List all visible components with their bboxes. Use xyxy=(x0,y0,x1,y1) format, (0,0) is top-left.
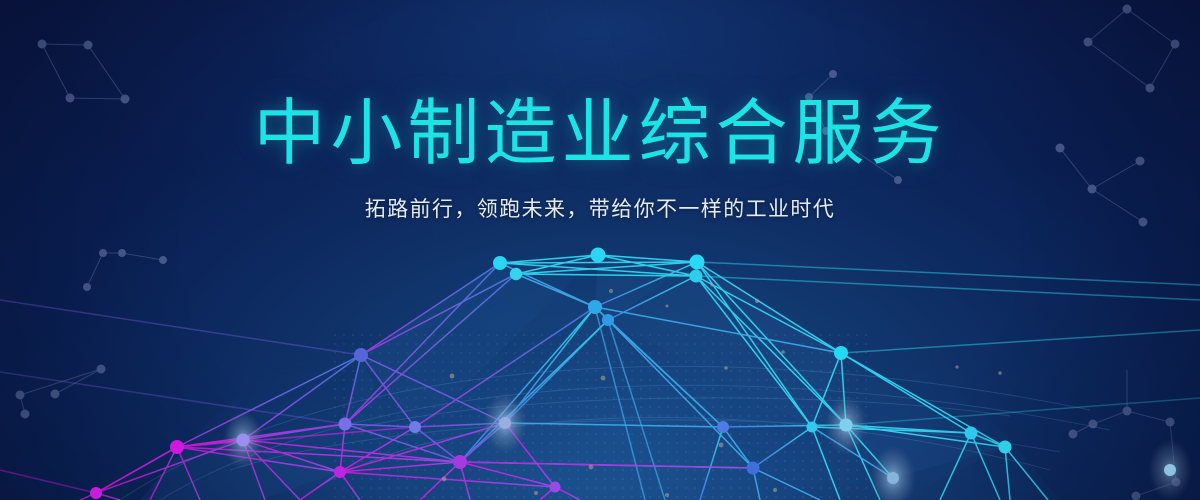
headline-block: 中小制造业综合服务 拓路前行，领跑未来，带给你不一样的工业时代 xyxy=(0,0,1200,223)
dome-nodes xyxy=(90,248,1176,500)
page-title: 中小制造业综合服务 xyxy=(0,98,1200,171)
hero-banner: 中小制造业综合服务 拓路前行，领跑未来，带给你不一样的工业时代 xyxy=(0,0,1200,500)
page-subtitle: 拓路前行，领跑未来，带给你不一样的工业时代 xyxy=(0,193,1200,223)
dust-specks xyxy=(442,283,1002,497)
